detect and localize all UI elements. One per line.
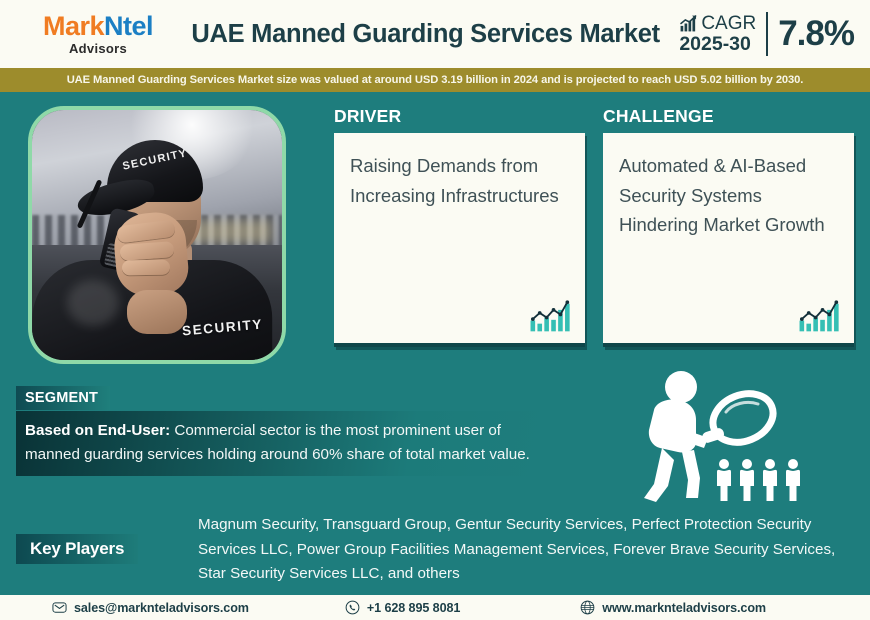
growth-chart-icon — [529, 299, 575, 333]
logo-wordmark: MarkNtel — [43, 13, 153, 40]
footer-email[interactable]: sales@marknteladvisors.com — [52, 600, 249, 615]
cagr-left: CAGR 2025-30 — [679, 14, 756, 55]
logo-subtitle: Advisors — [69, 42, 127, 55]
driver-heading: DRIVER — [334, 106, 585, 127]
person-with-magnifying-glass-icon — [616, 368, 816, 513]
cagr-years: 2025-30 — [679, 35, 751, 55]
security-guard-photo: SECURITY SECURITY — [28, 106, 286, 364]
cagr-label: CAGR — [701, 14, 756, 33]
driver-box: Raising Demands from Increasing Infrastr… — [334, 133, 585, 347]
footer-website[interactable]: www.marknteladvisors.com — [580, 600, 766, 615]
challenge-heading: CHALLENGE — [603, 106, 854, 127]
company-logo[interactable]: MarkNtel Advisors — [18, 13, 178, 55]
segment-section: SEGMENT Based on End-User: Commercial se… — [16, 386, 556, 476]
driver-card: DRIVER Raising Demands from Increasing I… — [334, 106, 585, 347]
phone-icon — [345, 600, 360, 615]
bar-chart-growth-icon — [679, 14, 698, 33]
footer-phone-text: +1 628 895 8081 — [367, 601, 460, 615]
market-size-banner: UAE Manned Guarding Services Market size… — [0, 68, 870, 92]
challenge-text: Automated & AI-Based Security Systems Hi… — [619, 151, 838, 240]
driver-challenge-row: DRIVER Raising Demands from Increasing I… — [334, 106, 854, 347]
cagr-top-row: CAGR — [679, 14, 756, 33]
cagr-value: 7.8% — [778, 14, 854, 54]
challenge-card: CHALLENGE Automated & AI-Based Security … — [603, 106, 854, 347]
logo-part-mark: Mark — [43, 11, 104, 41]
envelope-icon — [52, 600, 67, 615]
segment-lead: Based on End-User: — [25, 422, 170, 439]
segment-body: Based on End-User: Commercial sector is … — [16, 411, 540, 476]
segment-badge: SEGMENT — [16, 386, 110, 410]
key-players-badge: Key Players — [16, 534, 138, 564]
growth-chart-icon — [798, 299, 844, 333]
infographic-root: MarkNtel Advisors UAE Manned Guarding Se… — [0, 0, 870, 620]
cagr-block: CAGR 2025-30 7.8% — [679, 12, 854, 56]
logo-part-ntel: Ntel — [104, 11, 153, 41]
footer-email-text: sales@marknteladvisors.com — [74, 601, 249, 615]
market-size-text: UAE Manned Guarding Services Market size… — [67, 74, 804, 86]
footer-website-text: www.marknteladvisors.com — [602, 601, 766, 615]
header-bar: MarkNtel Advisors UAE Manned Guarding Se… — [0, 0, 870, 68]
challenge-box: Automated & AI-Based Security Systems Hi… — [603, 133, 854, 347]
page-title: UAE Manned Guarding Services Market — [178, 20, 679, 49]
driver-text: Raising Demands from Increasing Infrastr… — [350, 151, 569, 210]
footer-bar: sales@marknteladvisors.com +1 628 895 80… — [0, 592, 870, 620]
key-players-list: Magnum Security, Transguard Group, Gentu… — [198, 513, 848, 587]
footer-phone[interactable]: +1 628 895 8081 — [345, 600, 460, 615]
cagr-divider — [766, 12, 768, 56]
globe-icon — [580, 600, 595, 615]
